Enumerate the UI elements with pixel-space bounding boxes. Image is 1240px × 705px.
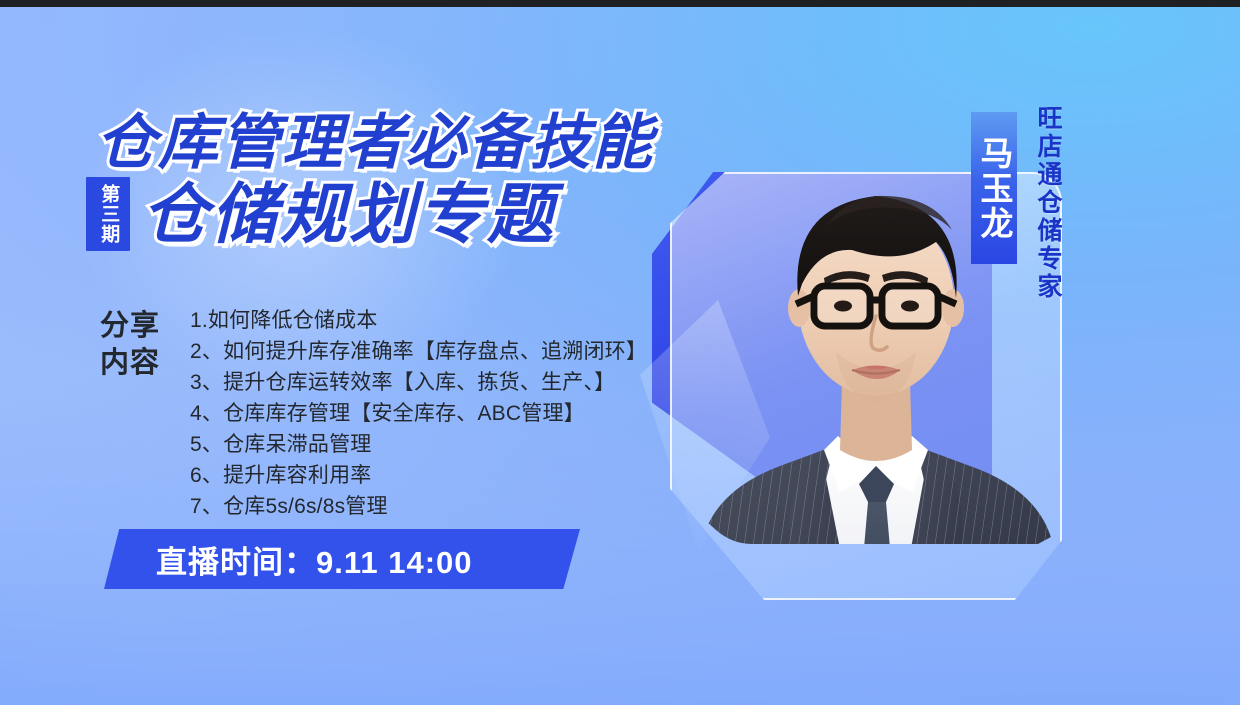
share-content-list: 1.如何降低仓储成本 2、如何提升库存准确率【库存盘点、追溯闭环】 3、提升仓库… <box>190 306 647 521</box>
share-content-block: 分享 内容 1.如何降低仓储成本 2、如何提升库存准确率【库存盘点、追溯闭环】 … <box>100 306 647 521</box>
share-label-line-1: 分享 <box>100 308 174 345</box>
list-item: 5、仓库呆滞品管理 <box>190 430 647 459</box>
list-item: 7、仓库5s/6s/8s管理 <box>190 492 647 521</box>
issue-badge: 第三期 <box>86 177 130 251</box>
live-time-text: 直播时间：9.11 14:00 <box>156 537 473 582</box>
title-line-1: 仓库管理者必备技能 <box>96 112 654 173</box>
list-item: 2、如何提升库存准确率【库存盘点、追溯闭环】 <box>190 337 647 366</box>
list-item: 1.如何降低仓储成本 <box>190 306 647 335</box>
speaker-role-text: 旺店通仓储专家 <box>1030 105 1066 301</box>
list-item: 3、提升仓库运转效率【入库、拣货、生产、】 <box>190 368 647 397</box>
share-label-line-2: 内容 <box>100 345 174 382</box>
top-bar <box>0 0 1240 7</box>
livestream-poster: 仓库管理者必备技能 第三期 仓储规划专题 分享 内容 1.如何降低仓储成本 2、… <box>0 0 1240 705</box>
title-row-2: 第三期 仓储规划专题 <box>86 177 654 251</box>
speaker-name-box: 马玉龙 <box>971 112 1017 264</box>
list-item: 4、仓库库存管理【安全库存、ABC管理】 <box>190 399 647 428</box>
list-item: 6、提升库容利用率 <box>190 461 647 490</box>
title-line-2: 仓储规划专题 <box>142 181 556 247</box>
share-content-label: 分享 内容 <box>100 306 174 382</box>
title-block: 仓库管理者必备技能 第三期 仓储规划专题 <box>86 112 654 251</box>
live-time-banner: 直播时间：9.11 14:00 <box>104 529 580 589</box>
